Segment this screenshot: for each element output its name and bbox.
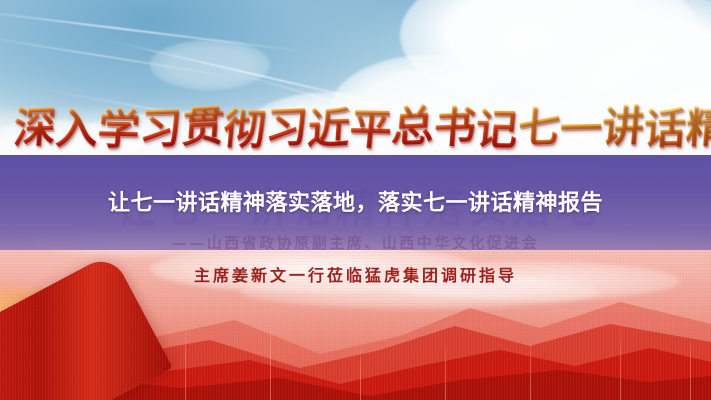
ribbon-dot-pattern [0, 296, 106, 350]
banner-char: 习 [264, 93, 310, 155]
page-title: 让七一讲话精神落实落地，落实七一讲话精神报告 [26, 188, 686, 218]
seam-line [445, 340, 446, 400]
seam-line [185, 320, 186, 400]
banner-char: 学 [95, 95, 143, 157]
seam-line [620, 325, 621, 400]
banner-char: 精 [684, 93, 711, 155]
banner-char: 书 [432, 93, 478, 155]
subtitle-line-2: 主席姜新文一行莅临猛虎集团调研指导 [0, 262, 711, 286]
banner-char: 记 [473, 95, 521, 157]
banner-char: 贯 [180, 92, 227, 155]
banner-char: 近 [306, 94, 352, 156]
seam-line [360, 345, 361, 400]
banner-char: 习 [138, 94, 184, 156]
banner-char: 平 [347, 95, 395, 157]
banner-char: 深 [12, 93, 58, 155]
banner-char: 话 [642, 94, 688, 156]
title-overlay-band: 让七一讲话精神落实落地，落实七一讲话精神报告 [0, 155, 711, 250]
banner-char: 总 [390, 92, 437, 155]
banner-char: 入 [54, 94, 100, 156]
poster-image: 深入学习贯彻习近平总书记七一讲话精神 让七一讲话精神落实落地 ——山西省政协原副… [0, 0, 711, 400]
ribbon-dot-pattern [0, 314, 101, 364]
banner-calligraphy-headline: 深入学习贯彻习近平总书记七一讲话精神 [14, 99, 704, 151]
seam-line [270, 315, 271, 400]
cloud-icon [150, 40, 270, 90]
banner-char: 一 [558, 94, 604, 156]
banner-char: 七 [516, 93, 562, 155]
banner-char: 彻 [221, 95, 269, 157]
seam-line [690, 335, 691, 400]
seam-line [530, 335, 531, 400]
banner-char: 讲 [600, 92, 647, 155]
